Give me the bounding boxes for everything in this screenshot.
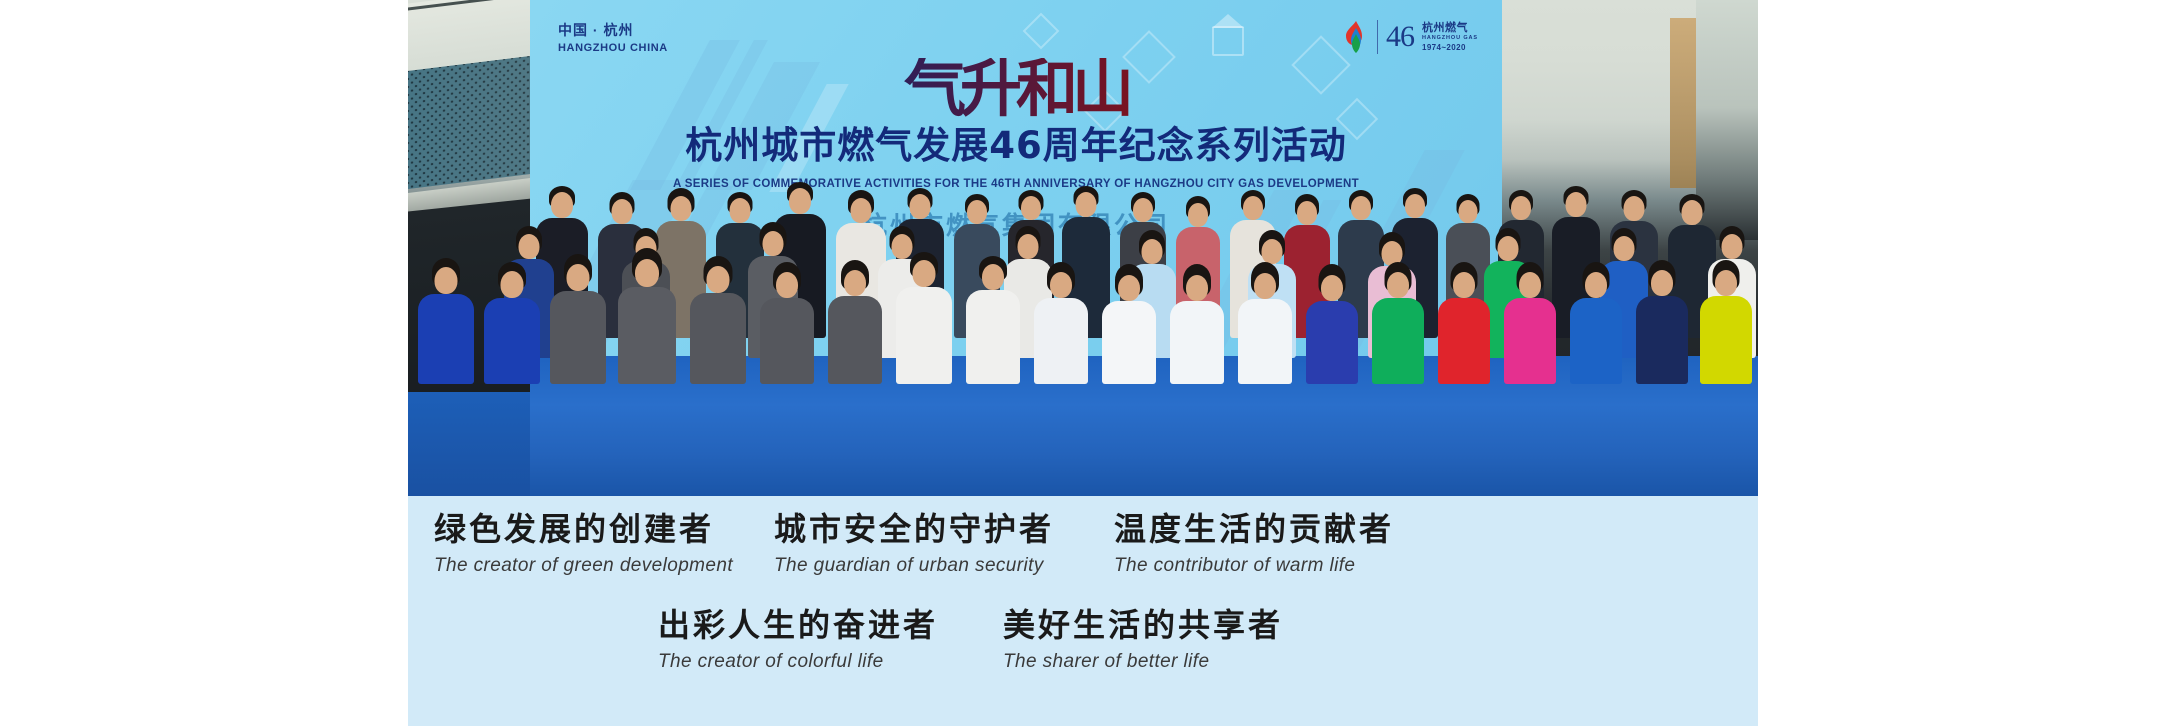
- person-front-5: [690, 256, 746, 384]
- group-photo: 中国 · 杭州 HANGZHOU CHINA 46 杭州燃气 HANGZHOU …: [408, 0, 1758, 496]
- person-front-1: [418, 258, 474, 384]
- slogan-urban-security: 城市安全的守护者 The guardian of urban security: [774, 512, 1114, 577]
- person-front-11: [1102, 264, 1156, 384]
- person-front-18: [1570, 262, 1622, 384]
- person-front-3: [550, 254, 606, 384]
- crowd-group: [408, 0, 1758, 496]
- slogan-en: The guardian of urban security: [774, 555, 1114, 577]
- page-root: 中国 · 杭州 HANGZHOU CHINA 46 杭州燃气 HANGZHOU …: [0, 0, 2179, 726]
- person-front-19: [1636, 260, 1688, 384]
- person-front-14: [1306, 264, 1358, 384]
- slogan-en: The creator of colorful life: [658, 651, 1003, 673]
- slogan-colorful-life: 出彩人生的奋进者 The creator of colorful life: [658, 608, 1003, 673]
- slogan-row-2: 出彩人生的奋进者 The creator of colorful life 美好…: [408, 608, 1758, 673]
- person-front-7: [828, 260, 882, 384]
- person-front-20: [1700, 260, 1752, 384]
- content-column: 中国 · 杭州 HANGZHOU CHINA 46 杭州燃气 HANGZHOU …: [408, 0, 1758, 726]
- slogan-en: The contributor of warm life: [1114, 555, 1454, 577]
- person-front-2: [484, 262, 540, 384]
- person-front-13: [1238, 262, 1292, 384]
- slogan-en: The sharer of better life: [1003, 651, 1348, 673]
- slogan-panel: 绿色发展的创建者 The creator of green developmen…: [408, 496, 1758, 726]
- slogan-cn: 美好生活的共享者: [1003, 608, 1348, 644]
- slogan-en: The creator of green development: [434, 555, 774, 577]
- person-front-12: [1170, 264, 1224, 384]
- person-front-9: [966, 256, 1020, 384]
- person-front-10: [1034, 262, 1088, 384]
- slogan-cn: 温度生活的贡献者: [1114, 512, 1454, 548]
- slogan-warm-life: 温度生活的贡献者 The contributor of warm life: [1114, 512, 1454, 577]
- person-front-15: [1372, 262, 1424, 384]
- slogan-cn: 出彩人生的奋进者: [658, 608, 1003, 644]
- slogan-row-1: 绿色发展的创建者 The creator of green developmen…: [408, 512, 1758, 577]
- person-front-4: [618, 248, 676, 384]
- person-front-8: [896, 252, 952, 384]
- person-front-6: [760, 262, 814, 384]
- person-front-17: [1504, 262, 1556, 384]
- slogan-cn: 城市安全的守护者: [774, 512, 1114, 548]
- slogan-cn: 绿色发展的创建者: [434, 512, 774, 548]
- slogan-better-life: 美好生活的共享者 The sharer of better life: [1003, 608, 1348, 673]
- person-front-16: [1438, 262, 1490, 384]
- slogan-green-development: 绿色发展的创建者 The creator of green developmen…: [434, 512, 774, 577]
